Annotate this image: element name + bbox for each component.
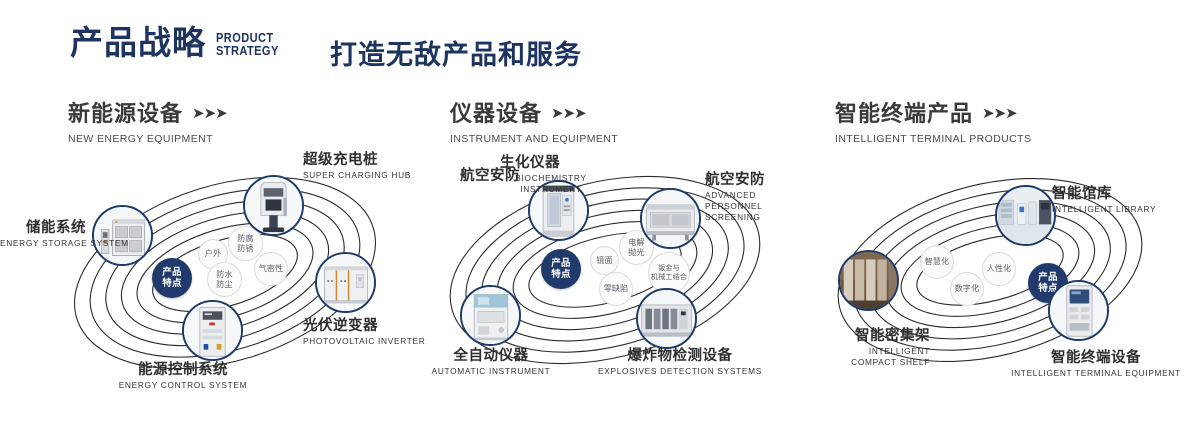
caption-en: EXPLOSIVES DETECTION SYSTEMS	[580, 366, 780, 377]
cluster-instrument-and-equipment: 产品特点 镜面 电解抛光 零缺陷 钣金与机械工结合	[400, 0, 820, 422]
photo-bubble-intelligent-library	[995, 185, 1056, 246]
advanced-personnel-screening-icon	[642, 190, 699, 247]
feature-bubble-text: 防腐防锈	[237, 234, 253, 254]
caption-explosives-detection-systems: 爆炸物检测设备 EXPLOSIVES DETECTION SYSTEMS	[580, 348, 780, 377]
caption-energy-control-system: 能源控制系统 ENERGY CONTROL SYSTEM	[78, 362, 288, 391]
feature-bubble-text: 智慧化	[925, 257, 950, 267]
caption-advanced-personnel-screening: 航空安防 ADVANCED PERSONNEL SCREENING	[705, 172, 797, 223]
product-strategy-infographic: 产品战略 PRODUCT STRATEGY 打造无敌产品和服务 新能源设备 ➤➤…	[0, 0, 1200, 422]
intelligent-library-icon	[997, 187, 1054, 244]
feature-bubble: 人性化	[982, 252, 1016, 286]
photo-bubble-advanced-personnel-screening	[640, 188, 701, 249]
caption-intelligent-compact-shelf: 智能密集架 INTELLIGENT COMPACT SHELF	[795, 328, 930, 368]
photo-bubble-energy-storage-system	[92, 205, 153, 266]
photo-bubble-intelligent-compact-shelf	[838, 250, 899, 311]
photo-bubble-energy-control-system	[182, 300, 243, 361]
caption-cn: 智能终端设备	[990, 350, 1200, 367]
photo-bubble-explosives-detection-systems	[636, 288, 697, 349]
caption-en: INTELLIGENT LIBRARY	[1052, 204, 1156, 215]
feature-bubble-text: 人性化	[987, 264, 1012, 274]
photo-bubble-photovoltaic-inverter	[315, 252, 376, 313]
caption-en: SUPER CHARGING HUB	[303, 170, 411, 181]
feature-bubble-text: 钣金与机械工结合	[651, 264, 687, 282]
cluster-intelligent-terminal-products: 智慧化 数字化 人性化 产品特点	[790, 0, 1200, 422]
photo-bubble-super-charging-hub	[243, 175, 304, 236]
photovoltaic-inverter-icon	[317, 254, 374, 311]
energy-storage-system-icon	[94, 207, 151, 264]
feature-bubble-text: 镜面	[596, 256, 612, 266]
feature-bubble-text: 产品特点	[551, 258, 570, 280]
feature-bubble-text: 户外	[205, 249, 221, 259]
caption-en: INTELLIGENT TERMINAL EQUIPMENT	[990, 368, 1200, 379]
caption-cn: 能源控制系统	[78, 362, 288, 379]
caption-en: INTELLIGENT COMPACT SHELF	[830, 346, 930, 368]
caption-en: AUTOMATIC INSTRUMENT	[405, 366, 577, 377]
photo-bubble-intelligent-terminal-equipment	[1048, 280, 1109, 341]
feature-bubble-text: 零缺陷	[604, 284, 629, 294]
caption-automatic-instrument: 全自动仪器 AUTOMATIC INSTRUMENT	[405, 348, 577, 377]
caption-biochemistry-instrument: 生化仪器 BIOCHEMISTRY INSTRUMENT	[465, 155, 595, 195]
caption-cn: 航空安防	[705, 172, 797, 189]
caption-cn: 智能馆库	[1052, 186, 1156, 203]
feature-bubble: 零缺陷	[599, 272, 633, 306]
feature-bubble-primary: 产品特点	[152, 258, 192, 298]
caption-super-charging-hub: 超级充电桩 SUPER CHARGING HUB	[303, 152, 411, 181]
caption-cn: 全自动仪器	[405, 348, 577, 365]
caption-cn: 超级充电桩	[303, 152, 411, 169]
caption-intelligent-terminal-equipment: 智能终端设备 INTELLIGENT TERMINAL EQUIPMENT	[990, 350, 1200, 379]
feature-bubble: 镜面	[590, 246, 619, 275]
caption-cn: 生化仪器	[465, 155, 595, 172]
feature-bubble-primary: 产品特点	[541, 249, 581, 289]
photo-bubble-automatic-instrument	[460, 285, 521, 346]
feature-bubble-text: 气密性	[259, 264, 284, 274]
energy-control-system-icon	[184, 302, 241, 359]
caption-cn: 爆炸物检测设备	[580, 348, 780, 365]
feature-bubble: 数字化	[950, 272, 984, 306]
feature-bubble-text: 防水防尘	[216, 270, 232, 290]
caption-energy-storage-system: 储能系统 ENERGY STORAGE SYSTEM	[0, 220, 86, 249]
caption-en: ADVANCED PERSONNEL SCREENING	[705, 190, 797, 223]
explosives-detection-systems-icon	[638, 290, 695, 347]
super-charging-hub-icon	[245, 177, 302, 234]
caption-cn: 储能系统	[0, 220, 86, 237]
feature-bubble: 防水防尘	[207, 262, 242, 297]
feature-bubble: 气密性	[254, 252, 288, 286]
caption-en: ENERGY STORAGE SYSTEM	[0, 238, 86, 249]
caption-cn: 智能密集架	[795, 328, 930, 345]
caption-en: ENERGY CONTROL SYSTEM	[78, 380, 288, 391]
cluster-new-energy-equipment: 产品特点 户外 防腐防锈 防水防尘 气密性	[0, 0, 430, 422]
feature-bubble-text: 数字化	[955, 284, 980, 294]
feature-bubble-text: 产品特点	[162, 267, 181, 289]
feature-bubble: 智慧化	[920, 245, 954, 279]
intelligent-compact-shelf-icon	[840, 252, 897, 309]
caption-en: BIOCHEMISTRY INSTRUMENT	[507, 173, 595, 195]
automatic-instrument-icon	[462, 287, 519, 344]
caption-intelligent-library: 智能馆库 INTELLIGENT LIBRARY	[1052, 186, 1156, 215]
intelligent-terminal-equipment-icon	[1050, 282, 1107, 339]
